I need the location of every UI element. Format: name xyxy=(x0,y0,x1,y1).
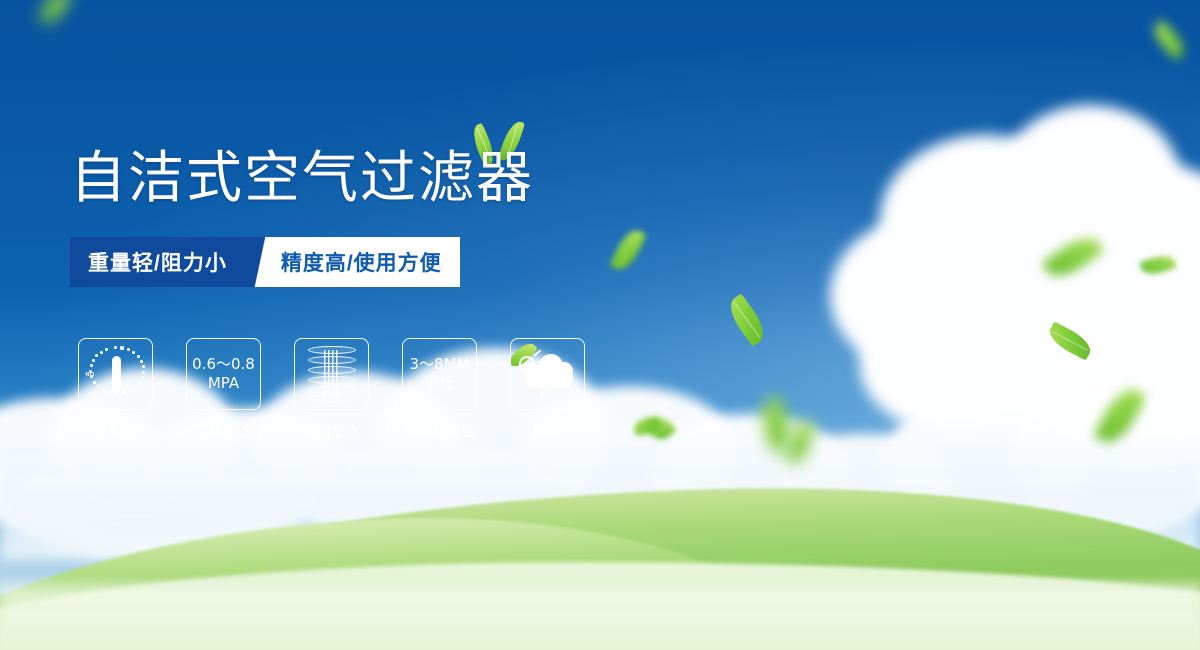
pressure-line-1: 0.6～0.8 xyxy=(192,355,255,374)
feature-label: 二级过滤 xyxy=(186,421,261,441)
gauge-no-label: NO xyxy=(86,372,95,378)
steel-line-2: 钢板 xyxy=(410,374,470,393)
subtitle-bar: 重量轻/阻力小 精度高/使用方便 xyxy=(70,237,460,287)
feature-icon-box: Air xyxy=(510,338,585,410)
feature-list: NO OFF 控制仪 0.6～0.8 MPA 二级过滤 xyxy=(78,338,585,441)
filter-stack-icon xyxy=(308,346,356,402)
pressure-text-icon: 0.6～0.8 MPA xyxy=(192,355,255,393)
feature-label: 集尘 xyxy=(510,421,585,441)
feature-spacer xyxy=(153,338,186,441)
feature-item-two-stage-filter[interactable]: 0.6～0.8 MPA 二级过滤 xyxy=(186,338,261,441)
gauge-icon: NO OFF xyxy=(86,345,146,403)
feature-item-steel-strength[interactable]: 3～8MM 钢板 钢结构强度 xyxy=(402,338,477,441)
air-label: Air xyxy=(517,386,579,399)
grass-foreground-haze xyxy=(0,580,1200,650)
grass-field xyxy=(0,478,1200,650)
feature-label: 控制仪 xyxy=(78,421,153,441)
steel-text-icon: 3～8MM 钢板 xyxy=(410,355,470,393)
feature-spacer xyxy=(369,338,402,441)
feature-label: 强力反吹 xyxy=(294,421,369,441)
feature-icon-box: 3～8MM 钢板 xyxy=(402,338,477,410)
air-cloud-icon: Air xyxy=(517,346,579,402)
feature-icon-box: 0.6～0.8 MPA xyxy=(186,338,261,410)
feature-spacer xyxy=(261,338,294,441)
feature-icon-box: NO OFF xyxy=(78,338,153,410)
gauge-needle xyxy=(112,356,121,394)
page-title: 自洁式空气过滤器 xyxy=(70,148,534,210)
feature-item-dust-collection[interactable]: Air 集尘 xyxy=(510,338,585,441)
feature-label: 钢结构强度 xyxy=(402,421,477,441)
feature-spacer xyxy=(477,338,510,441)
steel-line-1: 3～8MM xyxy=(410,355,470,374)
product-banner: 自洁式空气过滤器 重量轻/阻力小 精度高/使用方便 xyxy=(0,0,1200,650)
subtitle-left: 重量轻/阻力小 xyxy=(70,237,247,287)
subtitle-right: 精度高/使用方便 xyxy=(277,237,460,287)
feature-item-strong-blowback[interactable]: 强力反吹 xyxy=(294,338,369,441)
feature-icon-box xyxy=(294,338,369,410)
feature-item-controller[interactable]: NO OFF 控制仪 xyxy=(78,338,153,441)
pressure-line-2: MPA xyxy=(192,374,255,393)
subtitle-divider xyxy=(247,237,277,287)
gauge-off-label: OFF xyxy=(124,389,137,395)
